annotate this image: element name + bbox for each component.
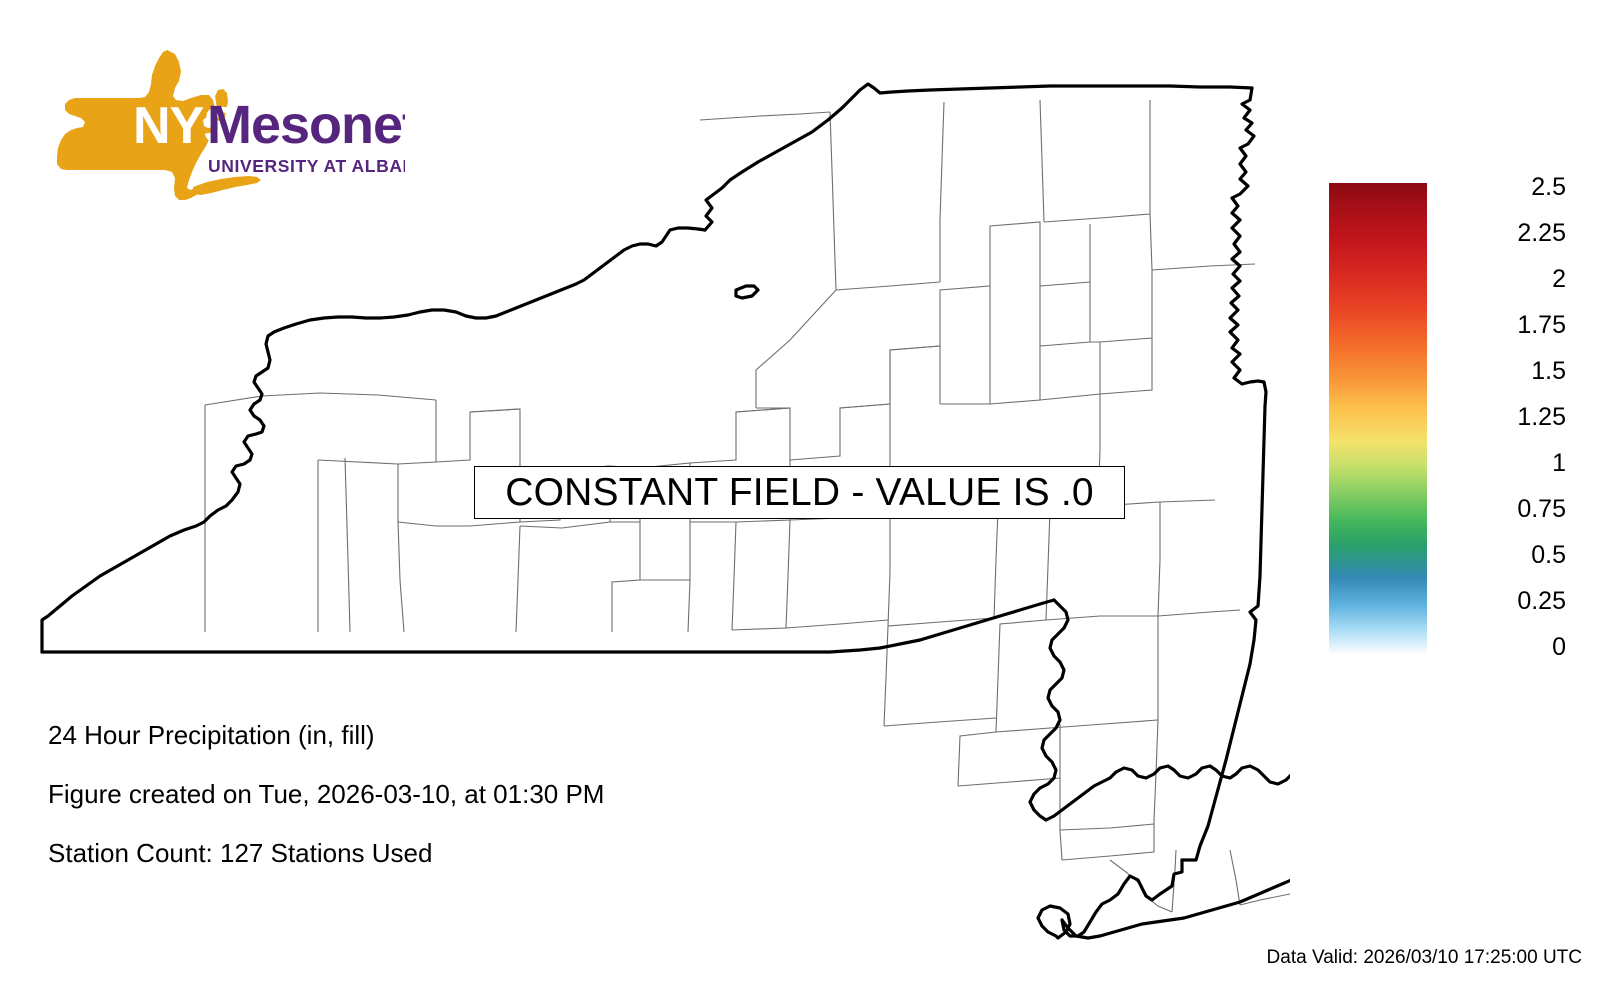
colorbar-tick-1-75: 1.75 (1517, 313, 1566, 338)
constant-field-text: CONSTANT FIELD - VALUE IS .0 (505, 473, 1094, 512)
colorbar-tick-1-5: 1.5 (1531, 359, 1566, 384)
constant-field-annotation: CONSTANT FIELD - VALUE IS .0 (474, 466, 1125, 519)
colorbar-tick-1: 1 (1552, 451, 1566, 476)
data-valid-timestamp: Data Valid: 2026/03/10 17:25:00 UTC (1267, 948, 1582, 967)
colorbar-tick-labels: 2.5 2.25 2 1.75 1.5 1.25 1 0.75 0.5 0.25… (1435, 170, 1590, 670)
colorbar-tick-1-25: 1.25 (1517, 405, 1566, 430)
figure-captions: 24 Hour Precipitation (in, fill) Figure … (48, 722, 948, 899)
colorbar-tick-0-75: 0.75 (1517, 497, 1566, 522)
colorbar-tick-0-5: 0.5 (1531, 543, 1566, 568)
colorbar-tick-2-25: 2.25 (1517, 221, 1566, 246)
caption-figure-created: Figure created on Tue, 2026-03-10, at 01… (48, 781, 948, 807)
caption-station-count: Station Count: 127 Stations Used (48, 840, 948, 866)
caption-product-title: 24 Hour Precipitation (in, fill) (48, 722, 948, 748)
colorbar-gradient (1329, 183, 1427, 653)
colorbar-tick-0-25: 0.25 (1517, 589, 1566, 614)
colorbar-tick-2-5: 2.5 (1531, 175, 1566, 200)
colorbar-tick-2: 2 (1552, 267, 1566, 292)
colorbar-tick-0: 0 (1552, 635, 1566, 660)
colorbar: 2.5 2.25 2 1.75 1.5 1.25 1 0.75 0.5 0.25… (1300, 170, 1600, 670)
